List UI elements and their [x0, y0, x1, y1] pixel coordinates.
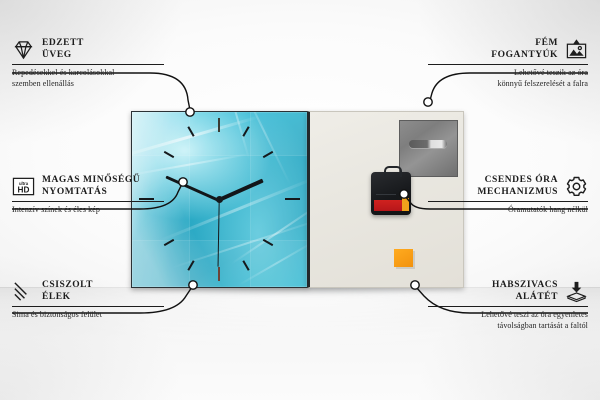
svg-text:HD: HD	[18, 185, 30, 194]
callout-title-line2: MECHANIZMUS	[478, 187, 558, 197]
product-infographic: EDZETT ÜVEG Repedésekkel és karcolásokka…	[0, 0, 600, 400]
callout-title-line1: FÉM	[535, 38, 558, 48]
callout-rule	[12, 201, 164, 202]
callout-rule	[12, 64, 164, 65]
callout-subtitle-line1: Repedésekkel és karcolásokkal	[12, 68, 164, 79]
callout-subtitle-line2: szemben ellenállás	[12, 79, 164, 90]
callout-rule	[428, 64, 588, 65]
callout-title-line1: HABSZIVACS	[492, 280, 558, 290]
callout-csendes-ora-mechanizmus[interactable]: CSENDES ÓRA MECHANIZMUS Óramutatók hang …	[428, 175, 588, 216]
clock-tick-3	[285, 198, 300, 200]
foam-pad-icon	[565, 280, 588, 303]
callout-title-line1: CSENDES ÓRA	[485, 175, 558, 185]
callout-title-line2: FOGANTYÚK	[491, 50, 558, 60]
callout-subtitle-line1: Sima és biztonságos felület	[12, 310, 164, 321]
polished-edges-icon	[12, 280, 35, 303]
callout-habszivacs-alatet[interactable]: HABSZIVACS ALÁTÉT Lehetővé teszi az óra …	[428, 280, 588, 331]
callout-subtitle-line1: Óramutatók hang nélkül	[428, 205, 588, 216]
callout-csiszolt-elek[interactable]: CSISZOLT ÉLEK Sima és biztonságos felüle…	[12, 280, 164, 321]
clock-tick-12	[218, 118, 220, 132]
foam-spacer-pad	[394, 249, 413, 267]
metal-hanger-plate	[399, 120, 458, 177]
clock-mechanism	[371, 172, 411, 215]
callout-subtitle-line2: távolságban tartását a faltól	[428, 321, 588, 332]
gear-icon	[565, 175, 588, 198]
mechanism-chip	[400, 192, 407, 196]
callout-fem-fogantyuk[interactable]: FÉM FOGANTYÚK Lehetővé teszik az óra kön…	[428, 38, 588, 89]
callout-title-line1: CSISZOLT	[42, 280, 93, 290]
callout-magas-minosegu-nyomtatas[interactable]: ultra HD MAGAS MINŐSÉGŰ NYOMTATÁS Intenz…	[12, 175, 164, 216]
diamond-icon	[12, 38, 35, 61]
clock-tick-6	[218, 267, 220, 281]
mechanism-seam	[376, 194, 396, 195]
mechanism-hook	[384, 166, 402, 177]
connector-dot-fem-fogantyuk	[424, 98, 432, 106]
callout-subtitle-line2: könnyű felszerelését a falra	[428, 79, 588, 90]
callout-rule	[12, 306, 164, 307]
callout-title-line2: ALÁTÉT	[516, 292, 558, 302]
callout-title-line2: ÜVEG	[42, 50, 72, 60]
picture-hanger-icon	[565, 38, 588, 61]
callout-rule	[428, 306, 588, 307]
callout-title-line2: NYOMTATÁS	[42, 187, 107, 197]
callout-subtitle-line1: Lehetővé teszi az óra egyenletes	[428, 310, 588, 321]
callout-subtitle-line1: Lehetővé teszik az óra	[428, 68, 588, 79]
hanger-slot	[409, 140, 447, 148]
ultra-hd-icon: ultra HD	[12, 175, 35, 198]
clock-center-hub	[216, 196, 223, 203]
callout-rule	[428, 201, 588, 202]
callout-title-line1: EDZETT	[42, 38, 84, 48]
callout-title-line2: ÉLEK	[42, 292, 71, 302]
mechanism-label	[374, 200, 408, 211]
callout-subtitle-line1: Intenzív színek és éles kép	[12, 205, 164, 216]
callout-edzett-uveg[interactable]: EDZETT ÜVEG Repedésekkel és karcolásokka…	[12, 38, 164, 89]
callout-title-line1: MAGAS MINŐSÉGŰ	[42, 175, 140, 185]
